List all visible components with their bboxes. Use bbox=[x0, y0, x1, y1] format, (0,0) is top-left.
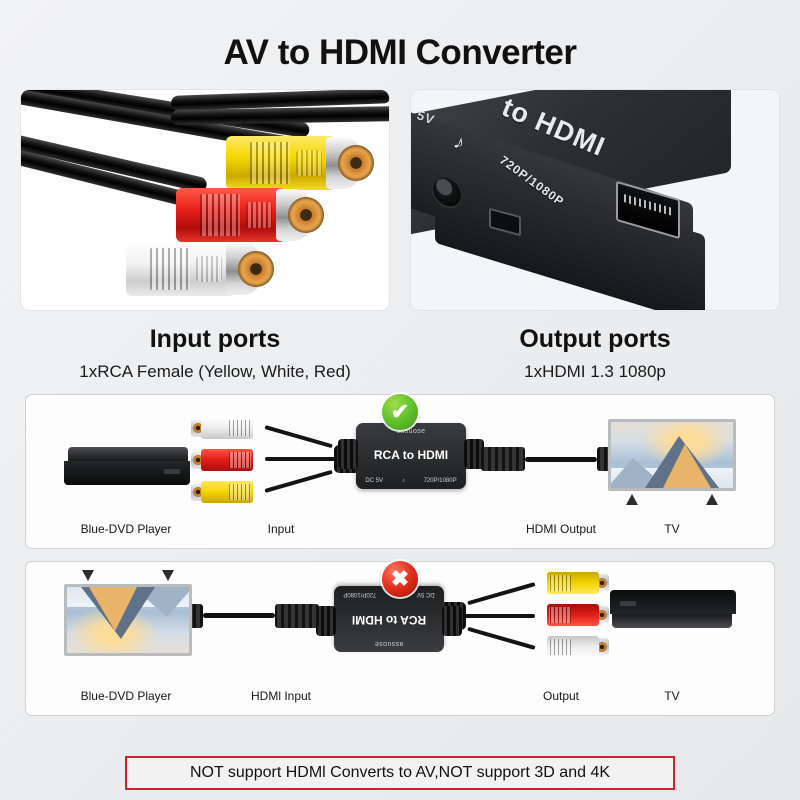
port-specifications: Input ports 1xRCA Female (Yellow, White,… bbox=[0, 311, 800, 382]
converter-main-label: RCA to HDMI bbox=[334, 613, 444, 627]
cable-wire bbox=[171, 106, 390, 125]
converter-input-boot bbox=[338, 439, 358, 469]
hdmi-wire bbox=[203, 613, 275, 618]
check-icon: ✔ bbox=[382, 394, 418, 430]
caption-source: Blue-DVD Player bbox=[56, 522, 196, 536]
diagram-panel-correct: ✔ assuose RCA to HDMI DC 5V bbox=[25, 394, 775, 549]
rca-plug-red bbox=[191, 449, 269, 471]
rca-plug-white bbox=[191, 417, 269, 439]
converter-box-graphic: assuose RCA to HDMI DC 5V ♪ 720P/1080P bbox=[334, 586, 444, 652]
dvd-player-graphic bbox=[64, 447, 190, 485]
tv-screen bbox=[64, 584, 192, 656]
converter-power-label: DC 5V bbox=[417, 591, 435, 597]
input-ports-detail: 1xRCA Female (Yellow, White, Red) bbox=[20, 362, 410, 382]
cable-illustration bbox=[21, 90, 389, 310]
caption-display: TV bbox=[610, 689, 734, 703]
rca-connectors-photo bbox=[20, 89, 390, 311]
product-photos: 5V to HDMI ♪ 720P/1080P bbox=[0, 73, 800, 311]
converter-box-graphic: assuose RCA to HDMI DC 5V ♪ 720P/1080P bbox=[356, 423, 466, 489]
rca-plug-yellow bbox=[191, 481, 269, 503]
rca-connector-red bbox=[176, 188, 328, 242]
converter-output-boot bbox=[316, 606, 336, 636]
rca-lead bbox=[467, 582, 535, 605]
input-ports-block: Input ports 1xRCA Female (Yellow, White,… bbox=[20, 325, 410, 382]
hdmi-wire bbox=[525, 457, 597, 462]
tv-graphic bbox=[64, 570, 192, 656]
output-ports-block: Output ports 1xHDMI 1.3 1080p bbox=[410, 325, 780, 382]
rca-plug-yellow bbox=[531, 572, 609, 594]
cross-icon: ✖ bbox=[382, 561, 418, 597]
tv-graphic bbox=[608, 419, 736, 505]
converter-power-label: DC 5V bbox=[365, 478, 383, 484]
rca-connector-yellow bbox=[226, 136, 378, 190]
page-title: AV to HDMI Converter bbox=[0, 0, 800, 73]
device-illustration: 5V to HDMI ♪ 720P/1080P bbox=[411, 90, 779, 310]
hdmi-connector bbox=[275, 604, 319, 628]
rca-plug-red bbox=[531, 604, 609, 626]
converter-input-boot bbox=[442, 606, 462, 636]
warning-banner: NOT support HDMl Converts to AV,NOT supp… bbox=[125, 756, 675, 790]
caption-display: TV bbox=[610, 522, 734, 536]
converter-main-label: RCA to HDMI bbox=[356, 448, 466, 462]
converter-resolution-label: 720P/1080P bbox=[343, 591, 376, 597]
tv-screen bbox=[608, 419, 736, 491]
converter-brand-label: assuose bbox=[356, 428, 466, 435]
caption-input: HDMl Input bbox=[211, 689, 351, 703]
hdmi-connector bbox=[481, 447, 525, 471]
rca-plug-white bbox=[531, 636, 609, 658]
output-ports-detail: 1xHDMI 1.3 1080p bbox=[410, 362, 780, 382]
converter-brand-label: assuose bbox=[334, 640, 444, 647]
rca-connector-white bbox=[126, 242, 278, 296]
rca-lead bbox=[264, 425, 332, 448]
converter-resolution-label: 720P/1080P bbox=[424, 478, 457, 484]
caption-input: Input bbox=[211, 522, 351, 536]
converter-device-photo: 5V to HDMI ♪ 720P/1080P bbox=[410, 89, 780, 311]
rca-lead bbox=[463, 614, 535, 618]
caption-source: Blue-DVD Player bbox=[56, 689, 196, 703]
rca-lead bbox=[264, 470, 332, 493]
rca-lead bbox=[467, 627, 535, 650]
output-ports-heading: Output ports bbox=[410, 325, 780, 354]
headphone-icon: ♪ bbox=[402, 478, 405, 484]
dvd-player-graphic bbox=[610, 590, 736, 628]
diagram-panel-incorrect: ✖ assuose RCA to HDMI DC 5V bbox=[25, 561, 775, 716]
rca-lead bbox=[265, 457, 337, 461]
input-ports-heading: Input ports bbox=[20, 325, 410, 354]
